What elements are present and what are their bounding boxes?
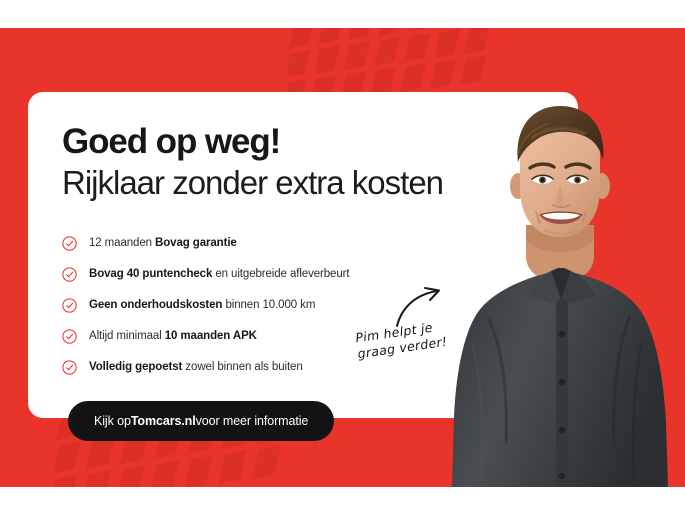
benefit-text: Volledig gepoetst zowel binnen als buite… [89, 362, 303, 374]
benefit-prefix: Altijd minimaal [89, 330, 165, 342]
benefit-strong: 10 maanden APK [165, 330, 257, 342]
check-circle-icon [62, 236, 77, 251]
cta-button[interactable]: Kijk op Tomcars.nl voor meer informatie [68, 401, 334, 441]
smiling-man-portrait [452, 104, 685, 487]
cta-brand: Tomcars.nl [131, 414, 196, 428]
benefit-prefix: 12 maanden [89, 237, 155, 249]
benefit-text: Bovag 40 puntencheck en uitgebreide afle… [89, 269, 349, 281]
list-item: 12 maanden Bovag garantie [62, 228, 349, 259]
page-title: Goed op weg! [62, 124, 280, 159]
list-item: Geen onderhoudskosten binnen 10.000 km [62, 290, 349, 321]
list-item: Bovag 40 puntencheck en uitgebreide afle… [62, 259, 349, 290]
list-item: Altijd minimaal 10 maanden APK [62, 321, 349, 352]
benefit-suffix: en uitgebreide afleverbeurt [212, 268, 349, 280]
benefit-strong: Bovag garantie [155, 237, 237, 249]
check-circle-icon [62, 298, 77, 313]
benefit-strong: Geen onderhoudskosten [89, 299, 222, 311]
check-circle-icon [62, 360, 77, 375]
list-item: Volledig gepoetst zowel binnen als buite… [62, 352, 349, 383]
promo-banner: Goed op weg! Rijklaar zonder extra koste… [0, 0, 685, 514]
benefit-suffix: zowel binnen als buiten [182, 361, 302, 373]
check-circle-icon [62, 329, 77, 344]
page-subtitle: Rijklaar zonder extra kosten [62, 164, 443, 202]
benefit-strong: Bovag 40 puntencheck [89, 268, 212, 280]
benefits-list: 12 maanden Bovag garantie Bovag 40 punte… [62, 228, 349, 383]
cta-prefix: Kijk op [94, 414, 131, 428]
benefit-suffix: binnen 10.000 km [222, 299, 315, 311]
check-circle-icon [62, 267, 77, 282]
benefit-text: 12 maanden Bovag garantie [89, 238, 237, 250]
benefit-text: Geen onderhoudskosten binnen 10.000 km [89, 300, 315, 312]
benefit-strong: Volledig gepoetst [89, 361, 182, 373]
cta-suffix: voor meer informatie [196, 414, 309, 428]
benefit-text: Altijd minimaal 10 maanden APK [89, 331, 257, 343]
